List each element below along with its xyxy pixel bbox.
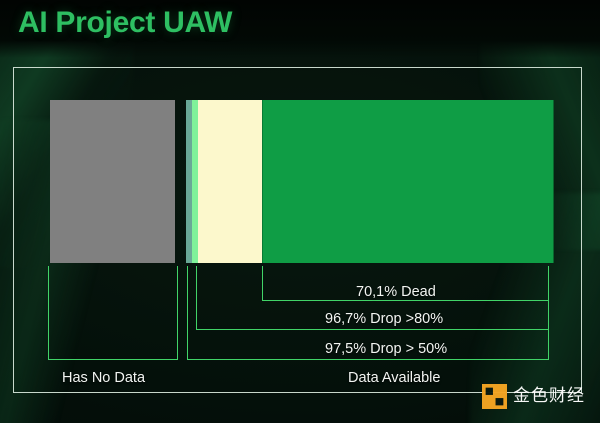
axis-label-has-no-data: Has No Data <box>62 370 145 386</box>
bracket-label-drop-over-50: 97,5% Drop > 50% <box>325 341 447 357</box>
axis-label-data-available: Data Available <box>348 370 440 386</box>
watermark-text: 金色财经 <box>513 388 585 405</box>
jinse-logo-icon <box>482 384 507 409</box>
bar-segment-drop-80-band <box>198 100 262 263</box>
chart-screenshot: AI Project UAW 70,1% Dead 96,7% Drop >80… <box>0 0 600 423</box>
page-title: AI Project UAW <box>18 6 232 40</box>
bracket-has-no-data <box>48 266 178 360</box>
watermark: 金色财经 <box>482 384 585 409</box>
bar-segment-dead <box>262 100 554 263</box>
stacked-bar <box>50 100 552 263</box>
bar-segment-has-no-data <box>50 100 175 263</box>
